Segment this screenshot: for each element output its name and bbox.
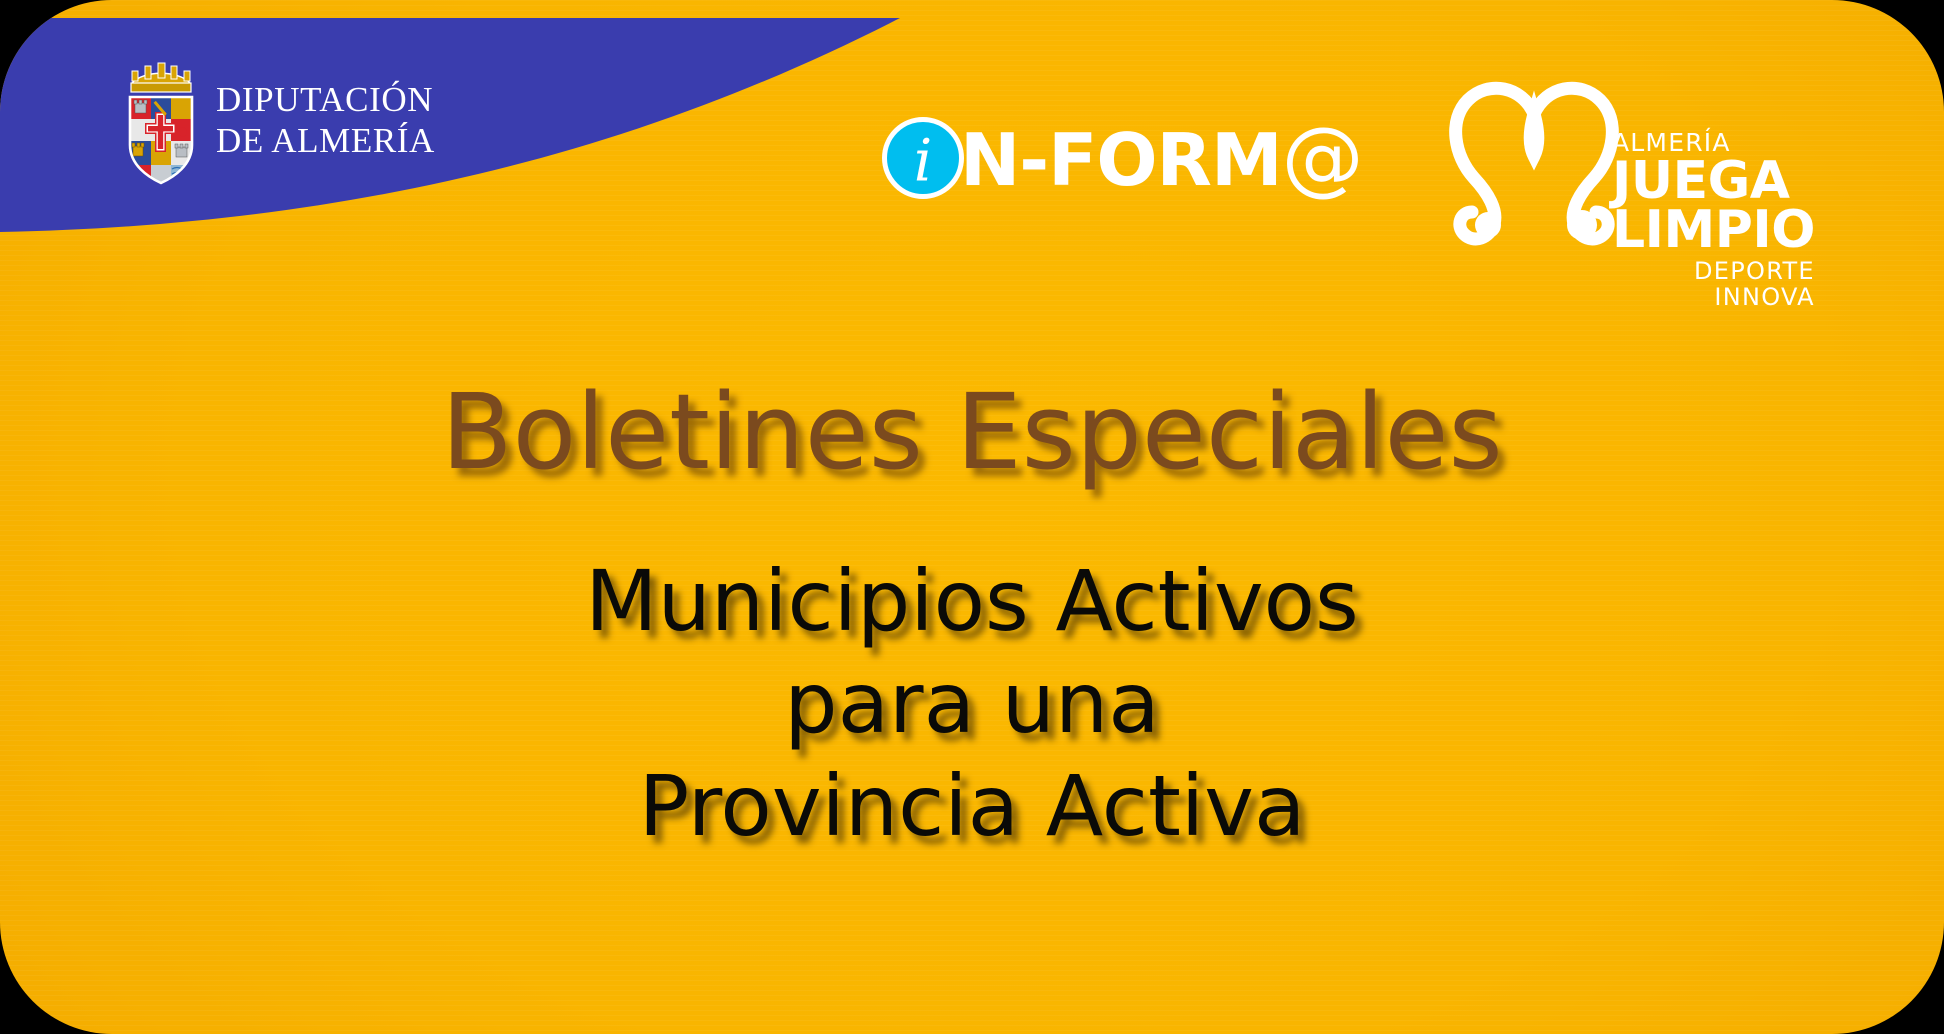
header-logo-row: DIPUTACIÓN DE ALMERÍA i N-FORM@ xyxy=(0,0,1944,300)
juega-line: JUEGA xyxy=(1612,157,1815,206)
informa-wordmark: N-FORM@ xyxy=(960,117,1363,199)
info-circle-icon: i xyxy=(882,117,964,199)
at-symbol-icon: @ xyxy=(1282,110,1363,205)
page-subtitle: Municipios Activos para una Provincia Ac… xyxy=(0,550,1944,857)
informa-logo[interactable]: i N-FORM@ xyxy=(882,110,1363,206)
innova-line: INNOVA xyxy=(1612,285,1815,311)
diputacion-logo-text: DIPUTACIÓN DE ALMERÍA xyxy=(216,80,435,161)
page-title: Boletines Especiales xyxy=(0,380,1944,484)
poster-card: DIPUTACIÓN DE ALMERÍA i N-FORM@ xyxy=(0,0,1944,1034)
poster-titles: Boletines Especiales Municipios Activos … xyxy=(0,380,1944,857)
diputacion-de-almeria-logo[interactable]: DIPUTACIÓN DE ALMERÍA xyxy=(122,56,422,186)
poster-root: DIPUTACIÓN DE ALMERÍA i N-FORM@ xyxy=(0,0,1944,1034)
subtitle-line-1: Municipios Activos xyxy=(0,550,1944,652)
limpio-line: LIMPIO xyxy=(1612,206,1815,255)
juega-limpio-logo[interactable]: ALMERÍA JUEGA LIMPIO DEPORTE INNOVA xyxy=(1430,52,1750,282)
diputacion-line-2: DE ALMERÍA xyxy=(216,121,435,162)
deporte-line: DEPORTE xyxy=(1612,259,1815,285)
informa-wordmark-text: N-FORM xyxy=(960,118,1282,202)
diputacion-line-1: DIPUTACIÓN xyxy=(216,80,435,121)
subtitle-line-2: para una xyxy=(0,652,1944,754)
almeria-coat-of-arms-icon xyxy=(122,57,200,185)
subtitle-line-3: Provincia Activa xyxy=(0,755,1944,857)
juega-limpio-text: ALMERÍA JUEGA LIMPIO DEPORTE INNOVA xyxy=(1612,130,1815,311)
informa-letter-i: i xyxy=(887,131,959,189)
